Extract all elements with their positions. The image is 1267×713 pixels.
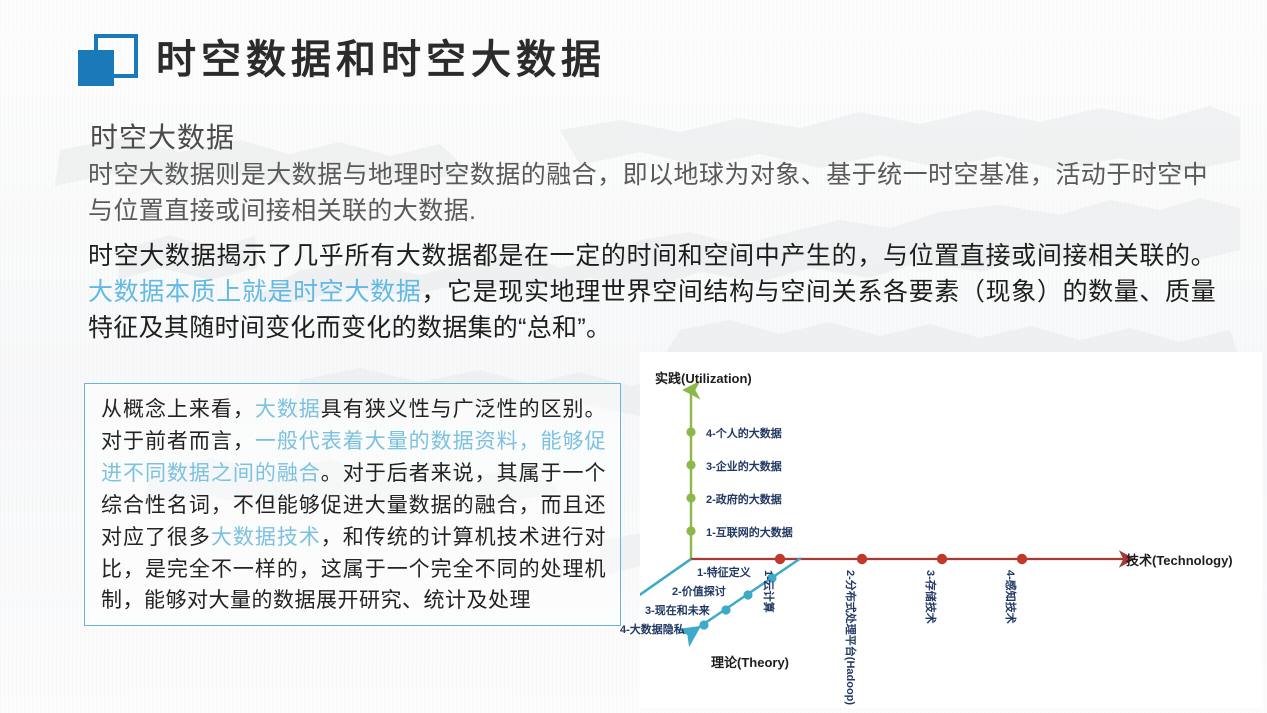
- utilization-point-2-label: 2-政府的大数据: [706, 491, 782, 507]
- note-seg-2-highlight: 大数据: [255, 397, 321, 421]
- section-heading: 时空大数据: [90, 120, 235, 155]
- technology-point-4-label: 4-感知技术: [1003, 570, 1019, 624]
- theory-point-4-label: 4-大数据隐私: [620, 621, 685, 637]
- technology-point-1-label: 1-云计算: [761, 570, 777, 613]
- paragraph-definition: 时空大数据则是大数据与地理时空数据的融合，即以地球为对象、基于统一时空基准，活动…: [88, 158, 1208, 229]
- technology-point-3-label: 3-存储技术: [923, 570, 939, 624]
- two-squares-icon: [78, 34, 136, 86]
- theory-point-2-label: 2-价值探讨: [672, 583, 726, 599]
- note-seg-6-highlight: 大数据技术: [211, 525, 321, 549]
- three-axis-diagram: 实践(Utilization) 技术(Technology) 理论(Theory…: [640, 352, 1262, 708]
- note-box: 从概念上来看，大数据具有狭义性与广泛性的区别。对于前者而言，一般代表着大量的数据…: [84, 383, 621, 626]
- note-seg-1: 从概念上来看，: [101, 397, 255, 421]
- axis-title-technology: 技术(Technology): [1126, 550, 1233, 569]
- page-title-text: 时空数据和时空大数据: [156, 40, 606, 80]
- theory-point-1-label: 1-特征定义: [697, 564, 751, 580]
- paragraph-explanation: 时空大数据揭示了几乎所有大数据都是在一定的时间和空间中产生的，与位置直接或间接相…: [88, 238, 1216, 346]
- technology-point-2-label: 2-分布式处理平台(Hadoop): [843, 570, 859, 705]
- utilization-point-3-label: 3-企业的大数据: [706, 458, 782, 474]
- utilization-point-4-label: 4-个人的大数据: [706, 425, 782, 441]
- theory-point-3-label: 3-现在和未来: [645, 602, 710, 618]
- paragraph-explanation-part1: 时空大数据揭示了几乎所有大数据都是在一定的时间和空间中产生的，与位置直接或间接相…: [88, 242, 1216, 270]
- paragraph-explanation-highlight: 大数据本质上就是时空大数据: [88, 278, 421, 306]
- note-box-text: 从概念上来看，大数据具有狭义性与广泛性的区别。对于前者而言，一般代表着大量的数据…: [101, 394, 606, 617]
- square-filled-shape: [78, 50, 114, 86]
- utilization-point-1-label: 1-互联网的大数据: [706, 524, 793, 540]
- slide-canvas: 时空数据和时空大数据 时空大数据 时空大数据则是大数据与地理时空数据的融合，即以…: [0, 0, 1267, 713]
- axis-title-theory: 理论(Theory): [711, 652, 789, 671]
- axis-title-utilization: 实践(Utilization): [655, 368, 752, 387]
- page-title: 时空数据和时空大数据: [78, 34, 606, 86]
